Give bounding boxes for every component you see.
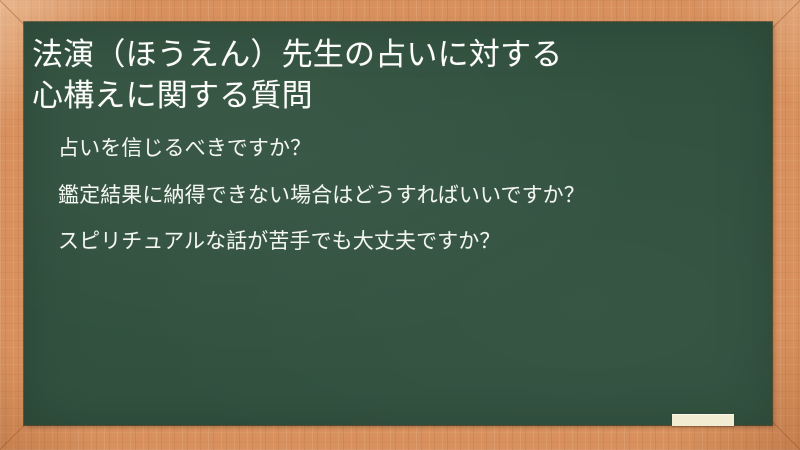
list-item: 占いを信じるべきですか？ (58, 134, 754, 164)
frame-miter-top-right (767, 0, 800, 33)
list-item: スピリチュアルな話が苦手でも大丈夫ですか？ (58, 227, 754, 257)
chalk-stick-icon (672, 414, 734, 426)
list-item: 鑑定結果に納得できない場合はどうすればいいですか？ (58, 181, 754, 211)
page-title: 法演（ほうえん）先生の占いに対する 心構えに関する質問 (32, 28, 754, 116)
chalkboard-content: 法演（ほうえん）先生の占いに対する 心構えに関する質問 占いを信じるべきですか？… (24, 22, 772, 425)
chalkboard-surface: 法演（ほうえん）先生の占いに対する 心構えに関する質問 占いを信じるべきですか？… (24, 22, 772, 425)
frame-miter-bottom-right (767, 417, 800, 450)
chalkboard-slide: 法演（ほうえん）先生の占いに対する 心構えに関する質問 占いを信じるべきですか？… (0, 0, 800, 450)
question-list: 占いを信じるべきですか？ 鑑定結果に納得できない場合はどうすればいいですか？ ス… (32, 134, 754, 257)
